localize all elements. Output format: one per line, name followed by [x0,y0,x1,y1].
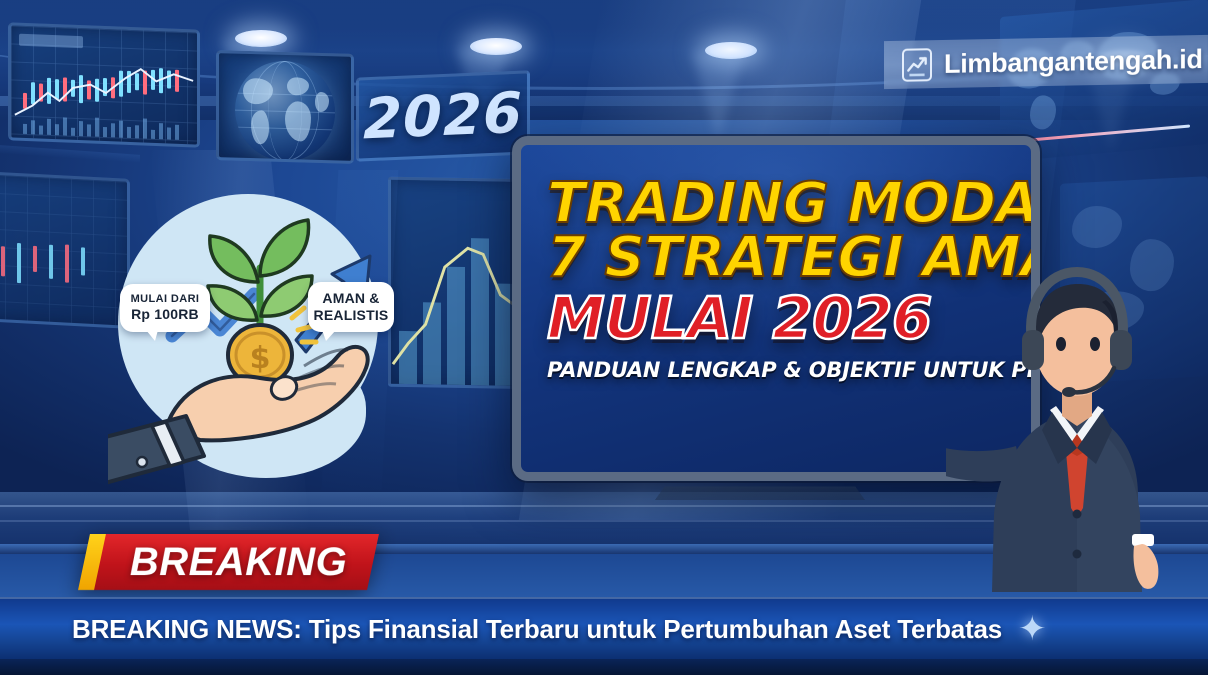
sparkle-icon: ✦ [1018,612,1047,646]
callout-line1: MULAI DARI [131,293,200,306]
headline-subtitle: PANDUAN LENGKAP & OBJEKTIF UNTUK PEMULA [547,358,1005,382]
brand-name: Limbangantengah.id [944,43,1203,79]
svg-text:$: $ [250,341,271,376]
hand-holding-coin-plant-illustration: $ MULAI DARI Rp 100RB AMAN & REALISTIS [108,190,428,490]
year-text: 2026 [363,80,523,152]
headline-line-2: 7 STRATEGI AMAN [547,231,1005,285]
ticker-text: BREAKING NEWS: Tips Finansial Terbaru un… [72,614,1002,645]
news-ticker-bar: BREAKING NEWS: Tips Finansial Terbaru un… [0,597,1208,659]
callout-line2: Rp 100RB [131,306,199,323]
callout-bubble-right: AMAN & REALISTIS [308,282,394,332]
callout-line1: AMAN & [322,290,379,307]
ceiling-spotlight-icon [470,38,522,55]
callout-bubble-left: MULAI DARI Rp 100RB [120,284,210,332]
ticker-body: Tips Finansial Terbaru untuk Pertumbuhan… [302,614,1002,644]
headline-line-1: TRADING MODAL KECIL: [547,177,1005,231]
badge-label: BREAKING [130,540,347,585]
globe-icon [235,60,335,163]
ticker-prefix: BREAKING NEWS: [72,614,302,644]
badge-red-panel: BREAKING [94,534,379,590]
ticker-bottom-edge [0,659,1208,675]
screen-stand [655,486,865,500]
callout-line2: REALISTIS [314,307,389,324]
breaking-badge: BREAKING [78,534,379,590]
globe-screen [216,50,354,164]
ceiling-spotlight-icon [235,30,287,47]
brand-logo-banner[interactable]: Limbangantengah.id [884,35,1208,89]
year-display-panel: 2026 [356,70,530,161]
headline-line-3: MULAI 2026 [547,290,1005,346]
trend-chart-icon [902,48,932,82]
candlestick-chart-icon [8,22,200,147]
news-broadcast-thumbnail: 2026 $ [0,0,1208,675]
news-anchor-illustration [946,196,1208,592]
